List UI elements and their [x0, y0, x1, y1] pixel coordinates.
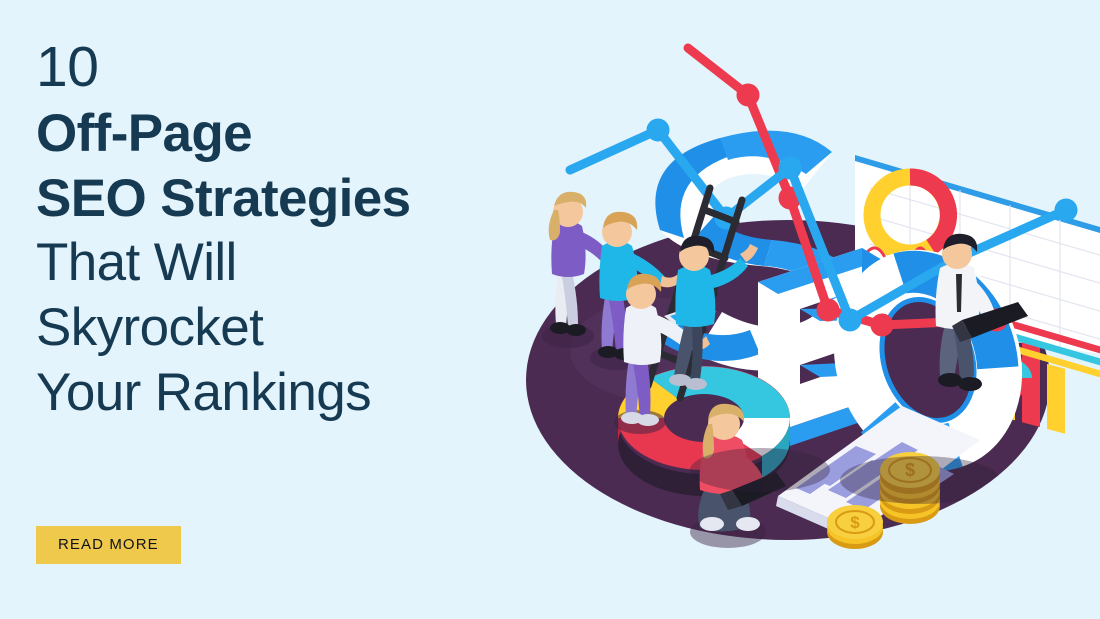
headline-block: 10 Off-Page SEO Strategies That Will Sky…	[36, 38, 556, 425]
read-more-button[interactable]: READ MORE	[36, 526, 181, 564]
headline-line-4: Skyrocket	[36, 296, 556, 361]
headline-line-5: Your Rankings	[36, 361, 556, 426]
seo-isometric-illustration: $ $	[510, 20, 1100, 600]
seo-blog-banner: 10 Off-Page SEO Strategies That Will Sky…	[0, 0, 1100, 619]
page-title: Off-Page SEO Strategies That Will Skyroc…	[36, 102, 556, 425]
headline-line-3: That Will	[36, 231, 556, 296]
svg-text:$: $	[850, 513, 860, 532]
eyebrow-number: 10	[36, 38, 556, 96]
headline-line-1: Off-Page	[36, 102, 556, 167]
headline-line-2: SEO Strategies	[36, 167, 556, 232]
